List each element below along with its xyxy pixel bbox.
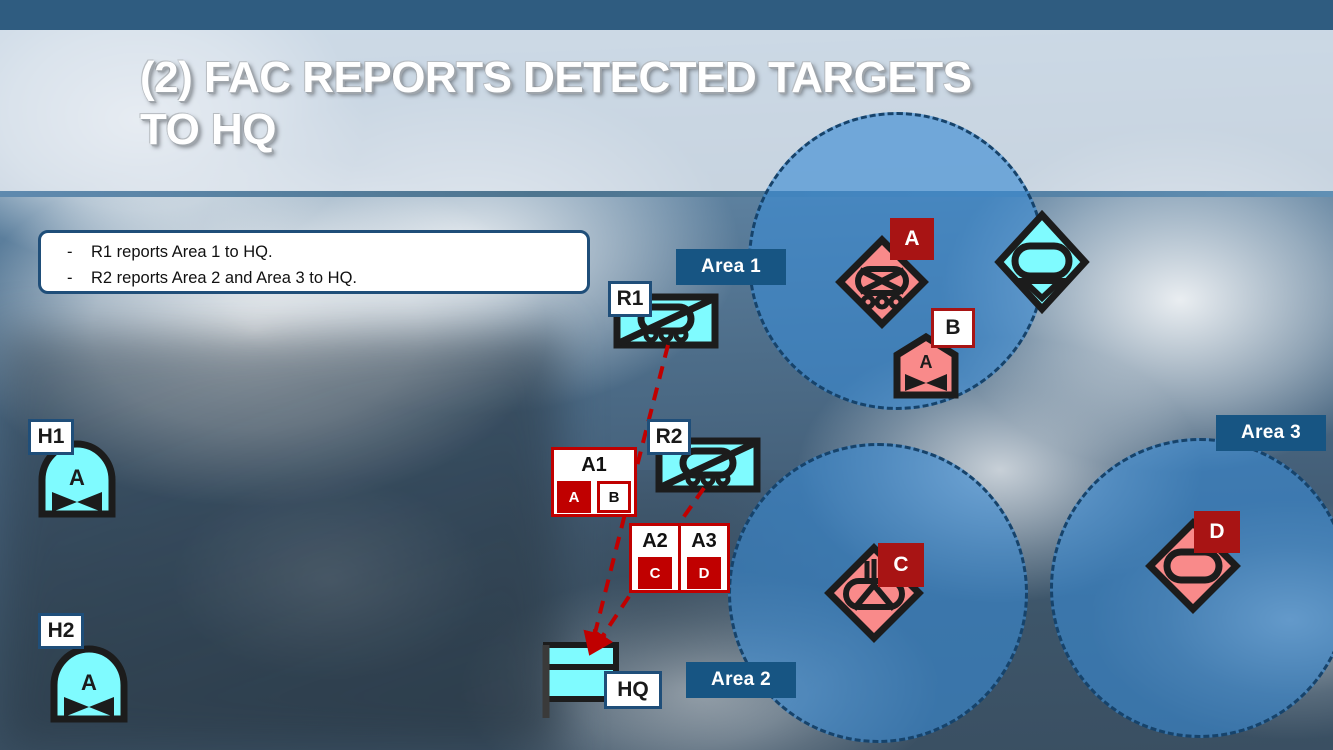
report-a1-items: A B [557, 481, 631, 513]
report-a3-item-d[interactable]: D [687, 557, 721, 589]
report-a1-item-b[interactable]: B [597, 481, 631, 513]
target-d-label-chip[interactable]: D [1194, 511, 1240, 553]
report-a1-item-a[interactable]: A [557, 481, 591, 513]
notes-box: - R1 reports Area 1 to HQ. - R2 reports … [38, 230, 590, 294]
area-label-area-3: Area 3 [1216, 415, 1326, 451]
h2-label-chip[interactable]: H2 [38, 613, 84, 649]
report-box-a3[interactable]: A3 D [678, 523, 730, 593]
neutral-sensor-diamond-icon [992, 210, 1092, 320]
report-a3-title: A3 [691, 531, 717, 551]
r1-label-chip[interactable]: R1 [608, 281, 652, 317]
report-a2-items: C [638, 557, 672, 589]
target-c-label-chip[interactable]: C [878, 543, 924, 587]
report-a2-item-c[interactable]: C [638, 557, 672, 589]
report-box-a1[interactable]: A1 A B [551, 447, 637, 517]
bullet-item: - R1 reports Area 1 to HQ. [53, 240, 577, 266]
svg-text:A: A [81, 670, 97, 695]
header-divider-rule [0, 191, 1333, 197]
bullet-dash: - [53, 266, 91, 292]
report-a3-items: D [687, 557, 721, 589]
bullet-item: - R2 reports Area 2 and Area 3 to HQ. [53, 266, 577, 292]
bullet-dash: - [53, 240, 91, 266]
bullet-text: R2 reports Area 2 and Area 3 to HQ. [91, 266, 357, 292]
report-a2-title: A2 [642, 531, 668, 551]
report-a1-title: A1 [581, 455, 607, 475]
slide-canvas: (2) FAC REPORTS DETECTED TARGETS TO HQ -… [0, 0, 1333, 750]
bullet-text: R1 reports Area 1 to HQ. [91, 240, 273, 266]
hq-label-chip[interactable]: HQ [604, 671, 662, 709]
report-box-a2[interactable]: A2 C [629, 523, 681, 593]
svg-text:A: A [69, 465, 85, 490]
r2-label-chip[interactable]: R2 [647, 419, 691, 455]
top-accent-bar [0, 0, 1333, 30]
target-a-label-chip[interactable]: A [890, 218, 934, 260]
target-b-label-chip[interactable]: B [931, 308, 975, 348]
h1-label-chip[interactable]: H1 [28, 419, 74, 455]
area-label-area-1: Area 1 [676, 249, 786, 285]
h2-rotary-wing-air-unit-icon: A [46, 645, 132, 721]
area-label-area-2: Area 2 [686, 662, 796, 698]
svg-text:A: A [920, 352, 933, 372]
